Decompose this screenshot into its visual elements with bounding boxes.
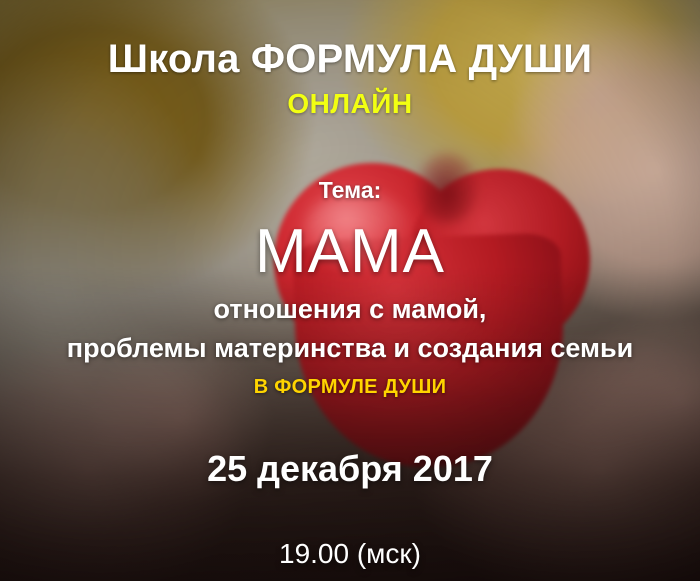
event-time: 19.00 (мск) (0, 538, 700, 570)
method-label: В ФОРМУЛЕ ДУШИ (0, 376, 700, 399)
online-badge: ОНЛАЙН (0, 88, 700, 120)
subject-line-one: отношения с мамой, (0, 294, 700, 325)
event-date: 25 декабря 2017 (0, 448, 700, 490)
topic-label: Тема: (0, 177, 700, 204)
school-title: Школа ФОРМУЛА ДУШИ (0, 37, 700, 82)
poster-text-content: Школа ФОРМУЛА ДУШИ ОНЛАЙН Тема: МАМА отн… (0, 0, 700, 581)
webinar-announcement-poster: Школа ФОРМУЛА ДУШИ ОНЛАЙН Тема: МАМА отн… (0, 0, 700, 581)
subject-line-two: проблемы материнства и создания семьи (0, 333, 700, 364)
topic-title: МАМА (0, 216, 700, 287)
